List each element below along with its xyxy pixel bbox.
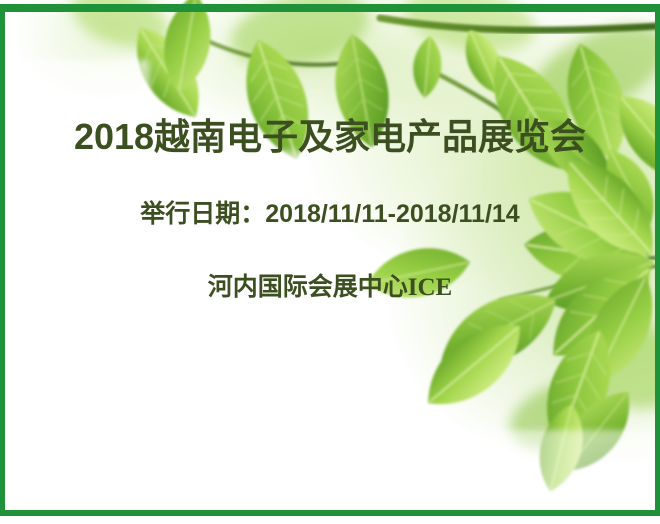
venue-code: ICE xyxy=(408,274,452,301)
poster-title: 2018越南电子及家电产品展览会 xyxy=(0,108,660,160)
frame-border-right xyxy=(655,4,660,516)
poster-venue-line: 河内国际会展中心ICE xyxy=(0,267,660,303)
poster-date-line: 举行日期：2018/11/11-2018/11/14 xyxy=(0,194,660,230)
leaf-bokeh-layer xyxy=(64,0,660,461)
exhibition-poster: 2018越南电子及家电产品展览会 举行日期：2018/11/11-2018/11… xyxy=(0,0,660,524)
frame-border-top xyxy=(0,4,660,12)
leaf-photo-background xyxy=(0,0,660,524)
frame-border-bottom xyxy=(0,510,660,516)
frame-border-left xyxy=(0,4,5,516)
venue-name: 河内国际会展中心 xyxy=(208,273,408,301)
sunlight-glow xyxy=(0,0,660,524)
foliage-illustration xyxy=(0,0,660,524)
